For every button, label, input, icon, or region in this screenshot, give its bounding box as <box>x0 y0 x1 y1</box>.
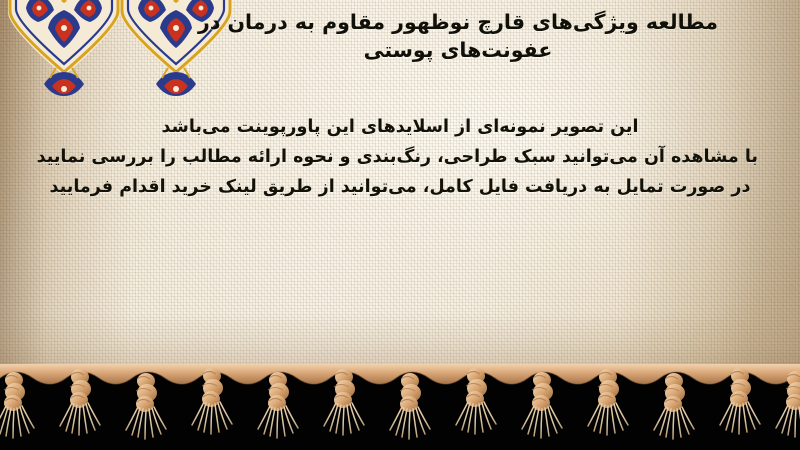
knotted-tassel-fringe <box>0 364 800 450</box>
slide-canvas: مطالعه ویژگی‌های قارچ نوظهور مقاوم به در… <box>0 0 800 450</box>
body-line-2: با مشاهده آن می‌توانید سبک طراحی، رنگ‌بن… <box>42 142 758 172</box>
bottom-shadow <box>0 312 800 372</box>
body-line-1: این تصویر نمونه‌ای از اسلایدهای این پاور… <box>42 112 758 142</box>
slide-title: مطالعه ویژگی‌های قارچ نوظهور مقاوم به در… <box>178 8 738 65</box>
slide-body: این تصویر نمونه‌ای از اسلایدهای این پاور… <box>42 112 758 202</box>
persian-medallion-ornament-left <box>6 0 122 96</box>
fringe-tassel-row <box>0 368 800 450</box>
body-line-3: در صورت تمایل به دریافت فایل کامل، می‌تو… <box>42 172 758 202</box>
